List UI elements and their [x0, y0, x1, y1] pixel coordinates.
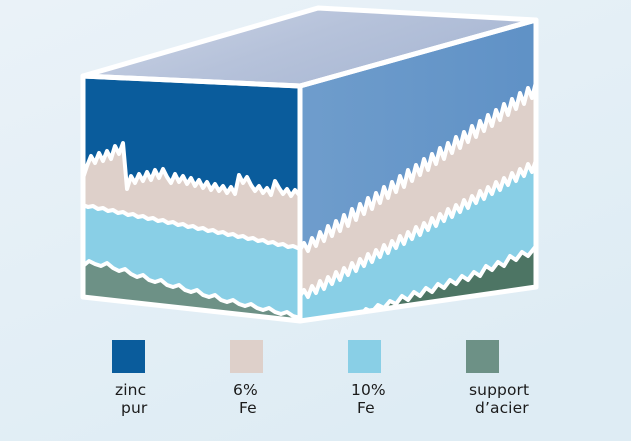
legend-label-10-pourcent-fe-line1: 10%: [348, 382, 386, 400]
legend-label-6-pourcent-fe-line1: 6%: [230, 382, 258, 400]
legend: zinc pur 6% Fe 10% Fe support d’acier: [0, 340, 631, 435]
legend-label-zinc-pur-line2: pur: [112, 400, 147, 418]
figure-root: zinc pur 6% Fe 10% Fe support d’acier: [0, 0, 631, 441]
legend-label-10-pourcent-fe-line2: Fe: [348, 400, 375, 418]
legend-item-support-d-acier: support d’acier: [466, 340, 584, 417]
legend-item-6-pourcent-fe: 6% Fe: [230, 340, 348, 417]
legend-swatch-6-pourcent-fe: [230, 340, 263, 373]
legend-item-zinc-pur: zinc pur: [112, 340, 230, 417]
legend-swatch-10-pourcent-fe: [348, 340, 381, 373]
legend-label-6-pourcent-fe-line2: Fe: [230, 400, 257, 418]
legend-label-zinc-pur-line1: zinc: [112, 382, 146, 400]
legend-swatch-zinc-pur: [112, 340, 145, 373]
legend-label-support-d-acier-line2: d’acier: [466, 400, 529, 418]
legend-item-10-pourcent-fe: 10% Fe: [348, 340, 466, 417]
legend-swatch-support-d-acier: [466, 340, 499, 373]
legend-label-support-d-acier-line1: support: [466, 382, 529, 400]
